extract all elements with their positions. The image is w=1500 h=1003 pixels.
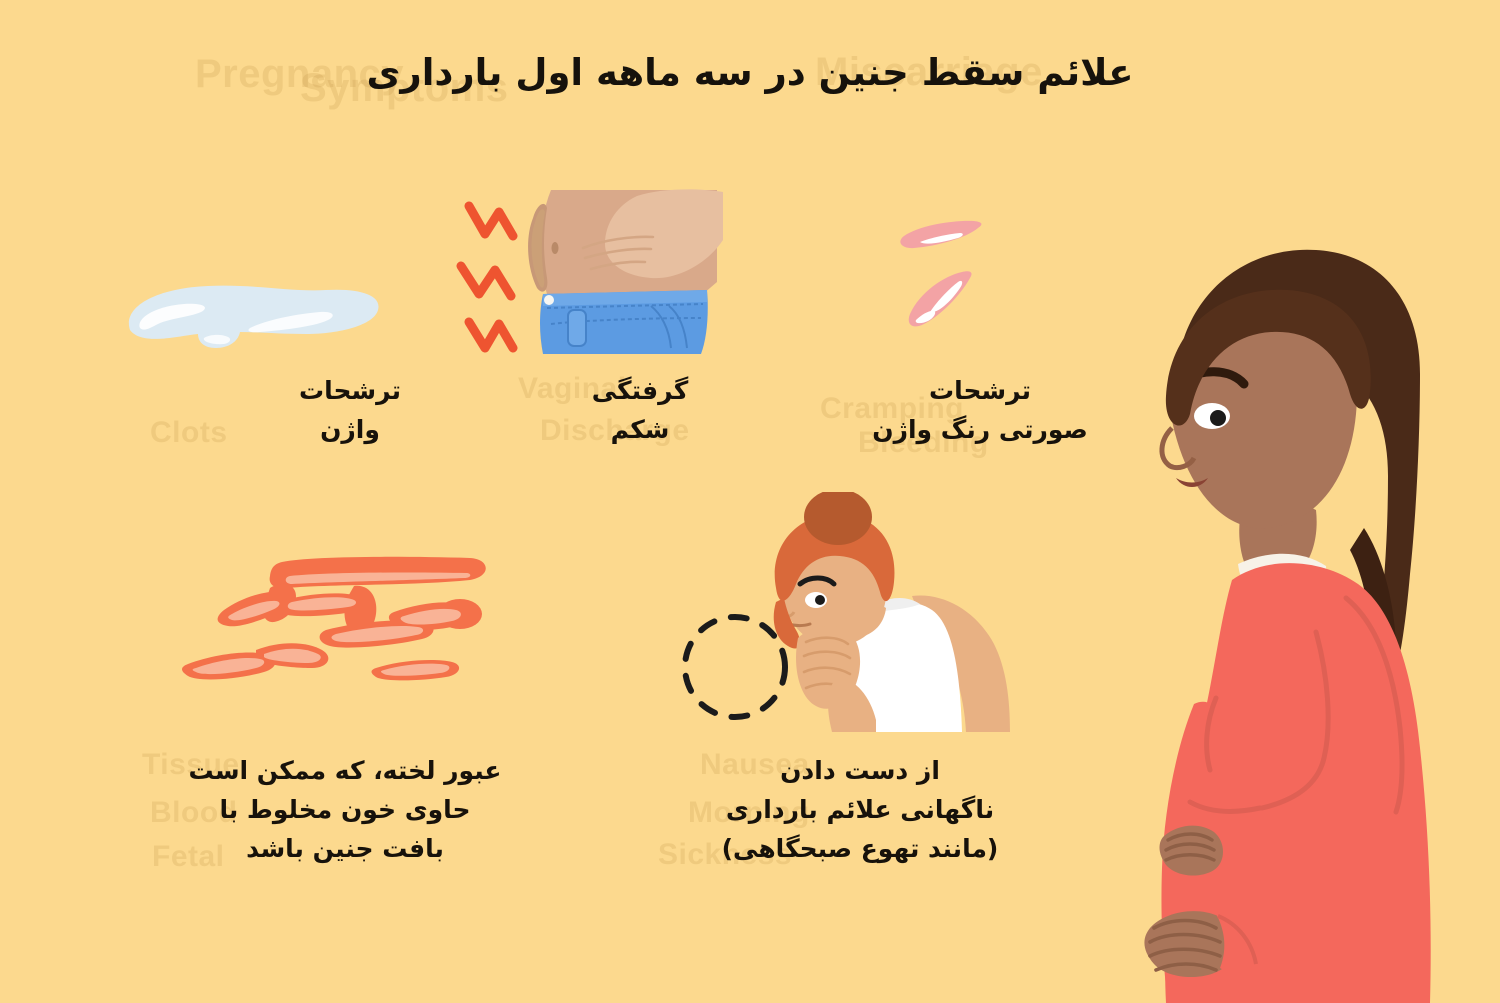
caption-line: (مانند تهوع صبحگاهی)	[680, 830, 1040, 869]
blood-clots-icon	[170, 540, 502, 702]
abdomen-cramp-icon	[455, 182, 727, 360]
fluid-puddle-icon	[100, 262, 390, 372]
caption-line: گرفتگی	[490, 372, 790, 411]
caption-line: شکم	[490, 411, 790, 450]
caption-abdominal-cramping: گرفتگی شکم	[490, 372, 790, 450]
pregnant-woman-illustration	[1120, 228, 1500, 1003]
caption-line: ناگهانی علائم بارداری	[680, 791, 1040, 830]
caption-line: ترشحات	[820, 372, 1140, 411]
infographic-canvas: Pregnancy Symptoms Miscarriage Vaginal D…	[0, 0, 1500, 1000]
caption-line: حاوی خون مخلوط با	[130, 791, 560, 830]
caption-line: عبور لخته، که ممکن است	[130, 752, 560, 791]
caption-loss-of-symptoms: از دست دادن ناگهانی علائم بارداری (مانند…	[680, 752, 1040, 868]
page-title: علائم سقط جنین در سه ماهه اول بارداری	[0, 50, 1500, 96]
dashed-circle-icon	[685, 617, 785, 717]
nauseated-woman-icon	[680, 492, 1022, 732]
caption-line: صورتی رنگ واژن	[820, 411, 1140, 450]
pink-droplets-icon	[882, 212, 1050, 342]
caption-line: از دست دادن	[680, 752, 1040, 791]
caption-clot-passage: عبور لخته، که ممکن است حاوی خون مخلوط با…	[130, 752, 560, 868]
caption-pink-discharge: ترشحات صورتی رنگ واژن	[820, 372, 1140, 450]
caption-line: بافت جنین باشد	[130, 830, 560, 869]
